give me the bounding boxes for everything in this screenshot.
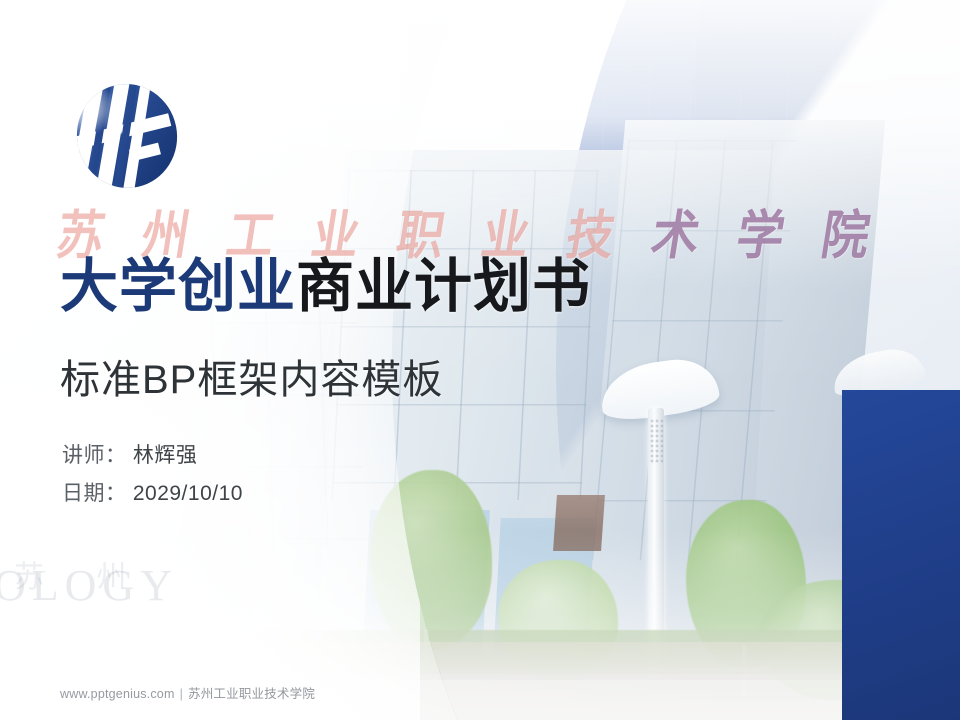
slide-title-rest: 商业计划书: [296, 254, 591, 319]
footer-website[interactable]: www.pptgenius.com: [60, 687, 175, 701]
footer-organization: 苏州工业职业技术学院: [188, 687, 315, 701]
presentation-slide: 苏州工业职业技术学院 苏州工业职业技术学院 OLOGY 苏 州: [0, 0, 960, 720]
slide-subtitle: 标准BP框架内容模板: [60, 347, 443, 405]
presenter-row: 讲师： 林辉强: [62, 437, 243, 475]
date-label: 日期：: [62, 482, 127, 505]
institute-logo-icon: [64, 74, 190, 200]
presenter-value: 林辉强: [133, 444, 198, 467]
footer-separator: |: [180, 687, 183, 701]
date-value: 2029/10/10: [133, 482, 243, 505]
presenter-label: 讲师：: [62, 444, 127, 467]
footer-credit: www.pptgenius.com|苏州工业职业技术学院: [60, 683, 315, 702]
slide-title-highlight: 大学创业: [60, 254, 296, 319]
date-row: 日期： 2029/10/10: [62, 475, 243, 513]
slide-title: 大学创业商业计划书: [60, 256, 591, 319]
seal-cn-watermark: 苏 州: [14, 552, 148, 596]
slide-meta-block: 讲师： 林辉强 日期： 2029/10/10: [62, 437, 243, 513]
